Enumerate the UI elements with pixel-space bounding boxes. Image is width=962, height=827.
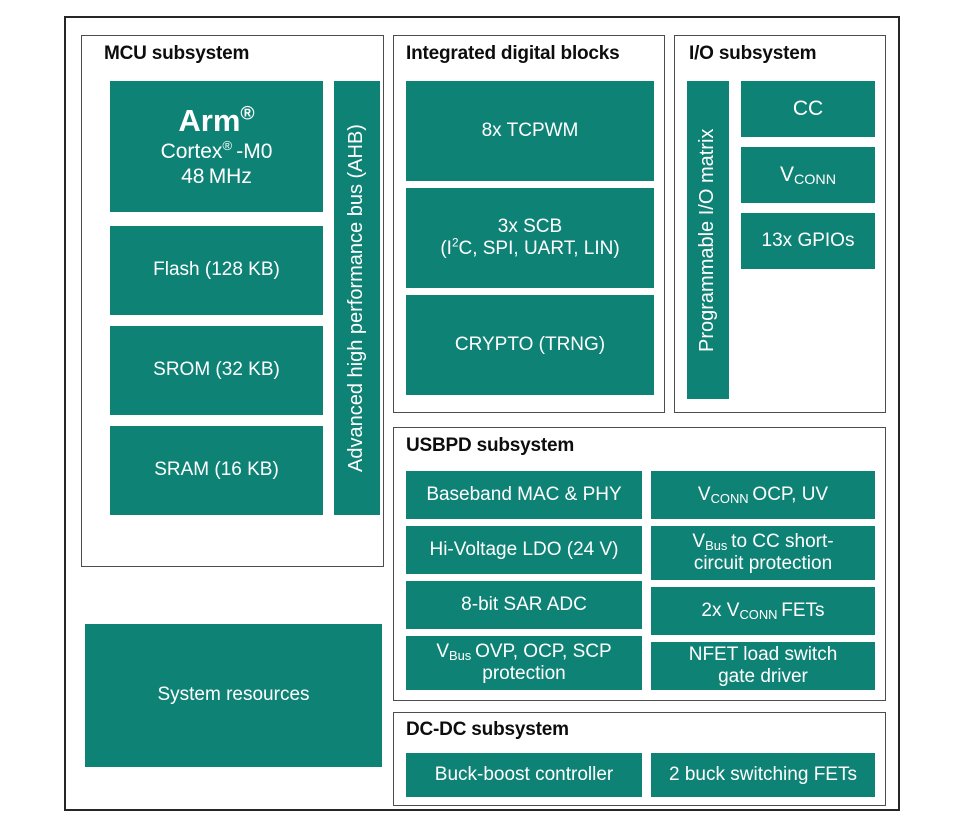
block-baseband-mac-phy: Baseband MAC & PHY [406,471,642,519]
block-arm-cortex-m0: Arm® Cortex® -M0 48 MHz [110,81,323,212]
block-srom: SROM (32 KB) [110,326,323,415]
block-sram-label: SRAM (16 KB) [154,459,279,481]
block-vconn-fets-label: 2x VCONN FETs [701,600,824,622]
block-vbus-cc-short-protection: VBus to CC short- circuit protection [651,526,875,580]
block-vbus-ovp-ocp-scp: VBus OVP, OCP, SCP protection [406,636,642,690]
block-sar-adc-label: 8-bit SAR ADC [461,594,587,616]
block-buck-switching-fets-label: 2 buck switching FETs [669,764,857,786]
usbpd-subsystem-title: USBPD subsystem [406,435,574,457]
arm-core-variant: Cortex® -M0 [161,140,273,165]
block-programmable-io-matrix: Programmable I/O matrix [687,81,729,399]
mcu-subsystem-title: MCU subsystem [104,43,249,65]
block-buck-switching-fets: 2 buck switching FETs [651,753,875,797]
block-crypto-trng: CRYPTO (TRNG) [406,295,654,395]
panel-io-subsystem: I/O subsystem Programmable I/O matrix CC… [674,35,886,413]
block-vconn-ocp-uv: VCONN OCP, UV [651,471,875,519]
block-nfet-load-switch-label2: gate driver [718,666,808,688]
block-vconn-label: VCONN [780,163,836,188]
block-buck-boost-controller-label: Buck-boost controller [435,764,613,786]
block-gpios-label: 13x GPIOs [762,230,855,252]
block-hi-voltage-ldo: Hi-Voltage LDO (24 V) [406,526,642,574]
block-cc-label: CC [793,97,823,122]
block-vbus-ovp-ocp-scp-label: VBus OVP, OCP, SCP [436,641,611,663]
block-srom-label: SROM (32 KB) [153,359,280,381]
integrated-digital-blocks-title: Integrated digital blocks [406,43,620,65]
block-sar-adc: 8-bit SAR ADC [406,581,642,629]
block-nfet-load-switch-gate-driver: NFET load switch gate driver [651,642,875,690]
chip-outer-frame: MCU subsystem Arm® Cortex® -M0 48 MHz Fl… [64,16,900,811]
block-cc: CC [741,81,875,137]
io-subsystem-title: I/O subsystem [689,43,816,65]
block-baseband-mac-phy-label: Baseband MAC & PHY [426,484,621,506]
block-tcpwm-label: 8x TCPWM [482,120,579,142]
block-crypto-trng-label: CRYPTO (TRNG) [455,334,605,356]
panel-mcu-subsystem: MCU subsystem Arm® Cortex® -M0 48 MHz Fl… [81,35,384,567]
chip-block-diagram: MCU subsystem Arm® Cortex® -M0 48 MHz Fl… [0,0,962,827]
block-flash-label: Flash (128 KB) [153,259,280,281]
block-system-resources: System resources [85,624,382,767]
block-nfet-load-switch-label: NFET load switch [689,644,838,666]
arm-core-name: Arm® [178,103,254,140]
block-vconn: VCONN [741,147,875,203]
block-gpios: 13x GPIOs [741,213,875,269]
block-vbus-ovp-ocp-scp-label2: protection [482,663,565,685]
block-vbus-cc-short-protection-label2: circuit protection [694,553,832,575]
block-flash: Flash (128 KB) [110,226,323,315]
block-vconn-fets: 2x VCONN FETs [651,587,875,635]
block-ahb-bus: Advanced high performance bus (AHB) [334,81,380,515]
panel-dcdc-subsystem: DC-DC subsystem Buck-boost controller 2 … [393,712,886,806]
panel-integrated-digital-blocks: Integrated digital blocks 8x TCPWM 3x SC… [393,35,665,413]
block-system-resources-label: System resources [157,684,309,706]
block-ahb-bus-label: Advanced high performance bus (AHB) [345,124,369,472]
block-programmable-io-matrix-label: Programmable I/O matrix [696,128,720,351]
block-vbus-cc-short-protection-label: VBus to CC short- [692,531,833,553]
panel-usbpd-subsystem: USBPD subsystem Baseband MAC & PHY Hi-Vo… [393,427,886,701]
block-sram: SRAM (16 KB) [110,426,323,515]
block-scb: 3x SCB (I2C, SPI, UART, LIN) [406,188,654,288]
block-scb-label: 3x SCB [498,216,562,238]
arm-core-frequency: 48 MHz [181,165,252,190]
block-buck-boost-controller: Buck-boost controller [406,753,642,797]
dcdc-subsystem-title: DC-DC subsystem [406,719,569,741]
block-tcpwm: 8x TCPWM [406,81,654,181]
block-vconn-ocp-uv-label: VCONN OCP, UV [698,484,828,506]
block-hi-voltage-ldo-label: Hi-Voltage LDO (24 V) [429,539,618,561]
block-scb-protocols: (I2C, SPI, UART, LIN) [440,238,619,260]
